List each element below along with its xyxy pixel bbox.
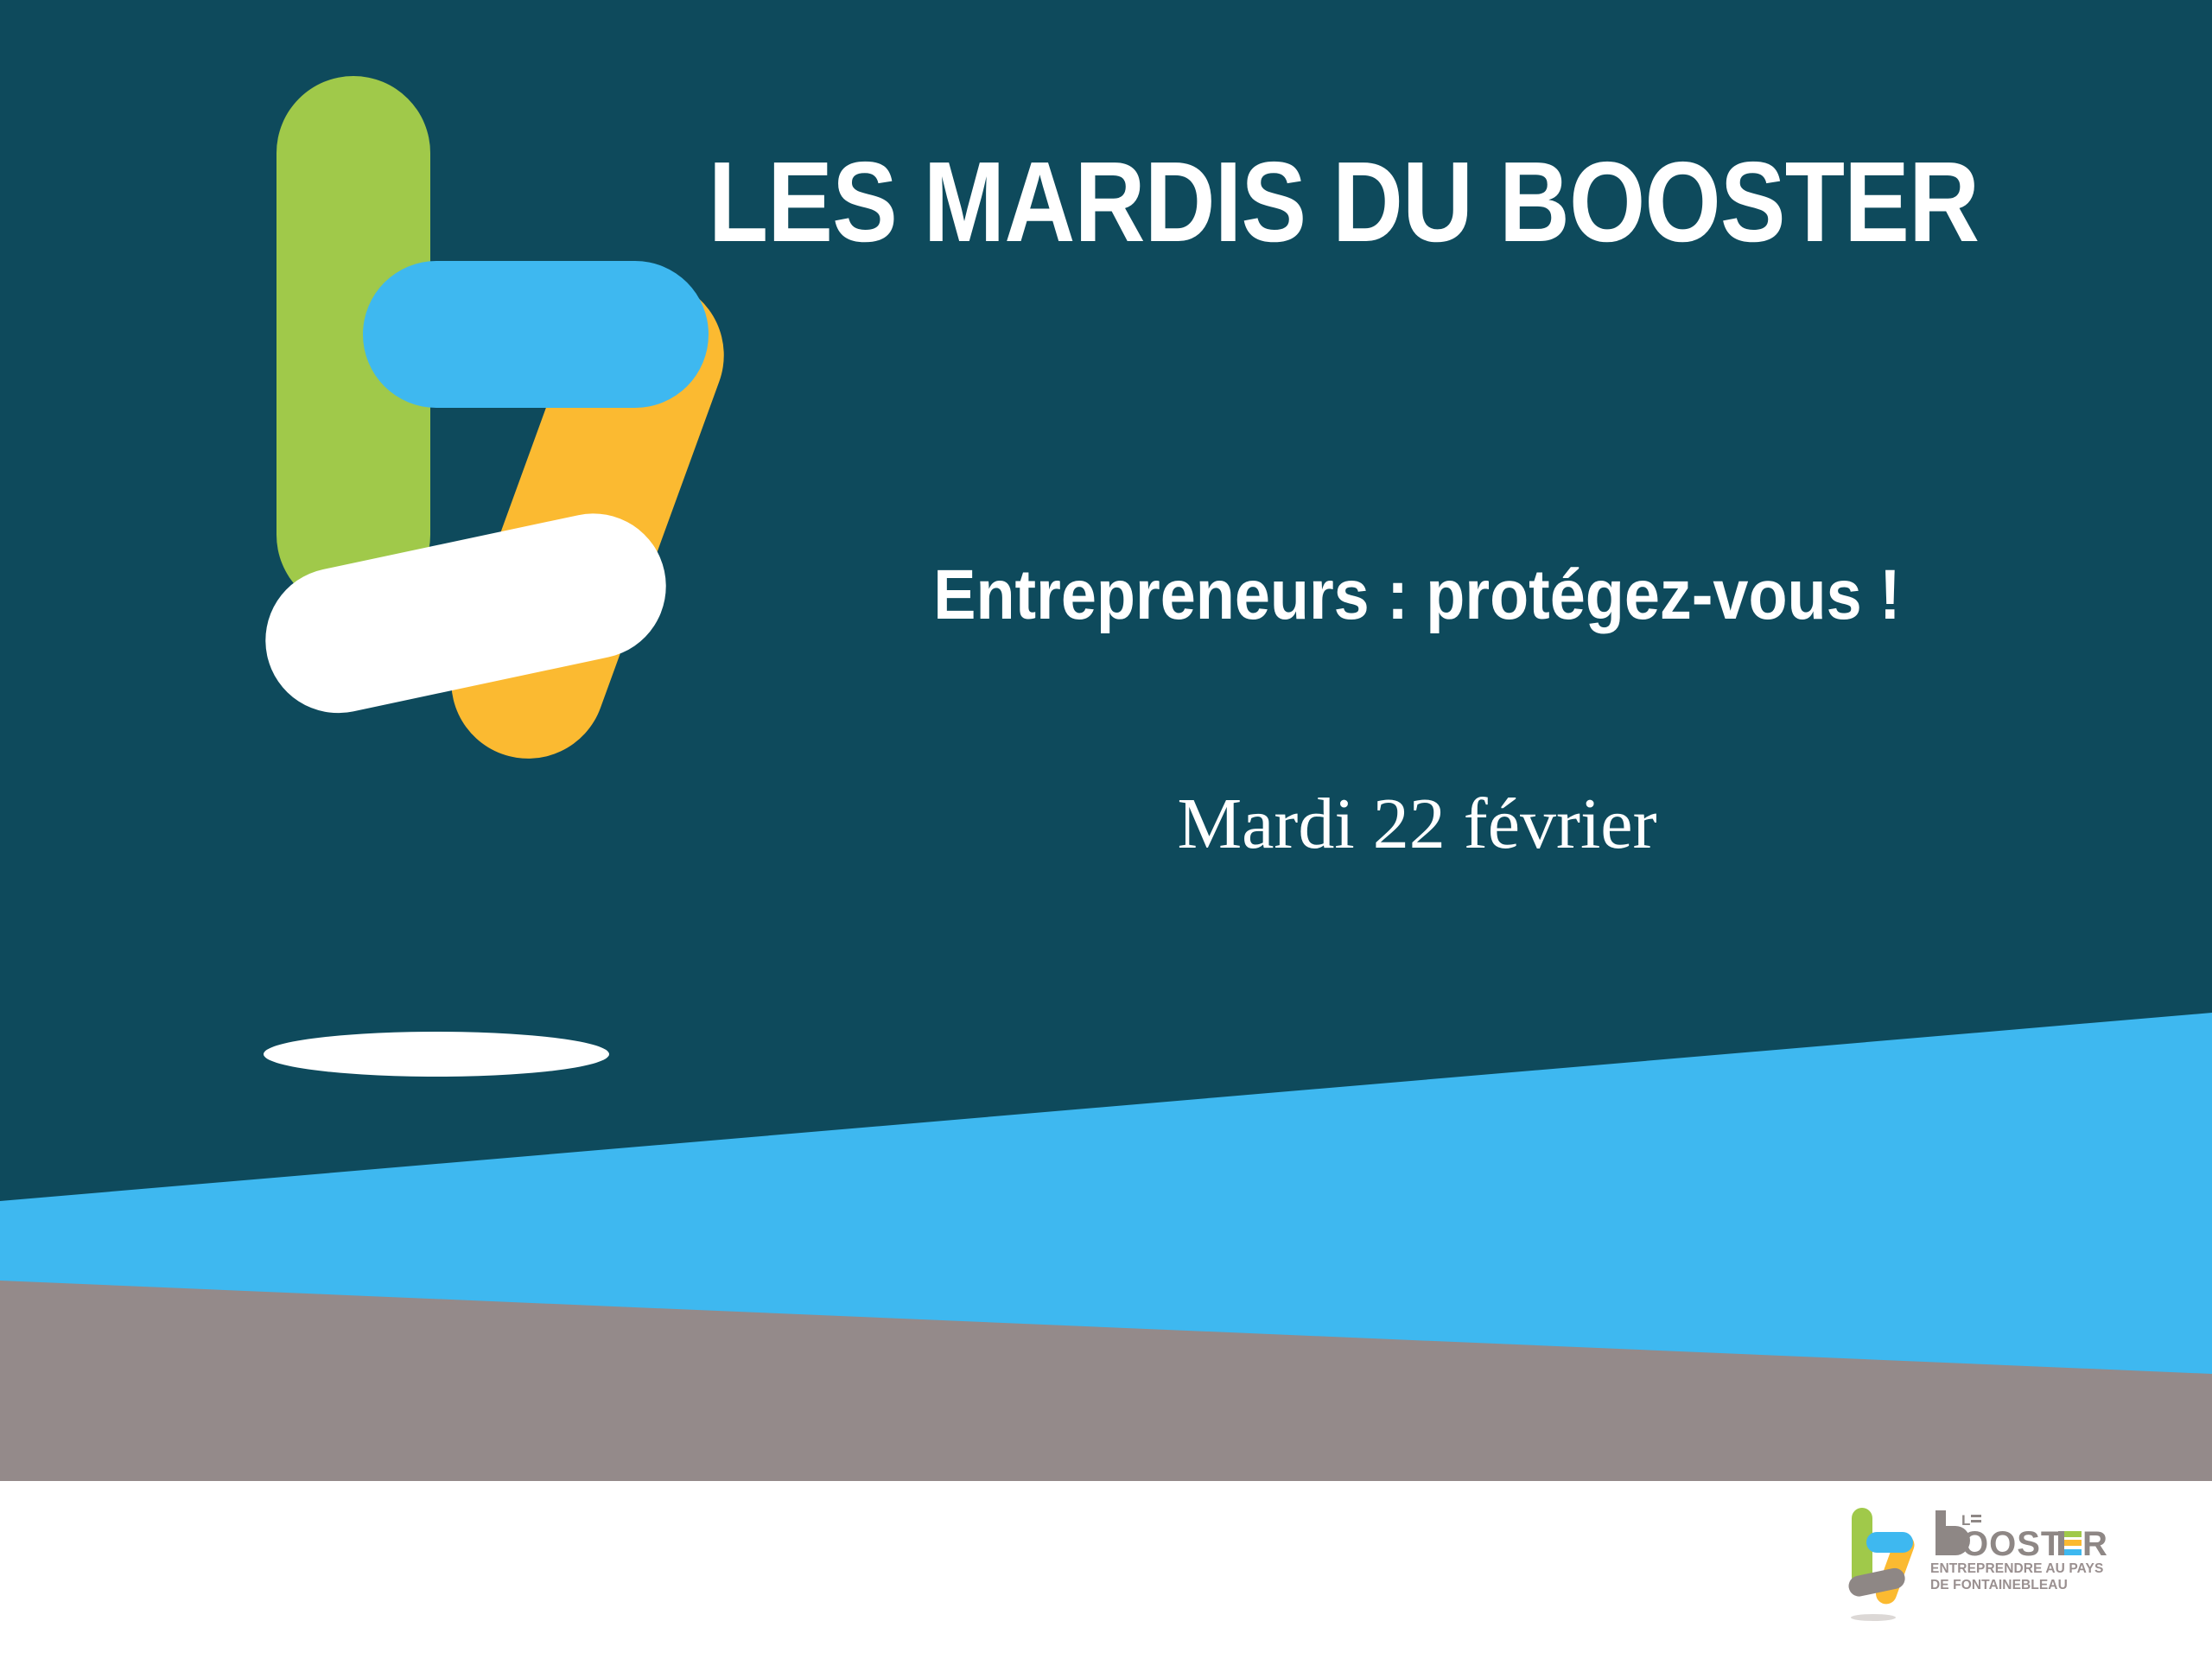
booster-logo-mark-small xyxy=(1847,1505,1927,1626)
footer-brand-logo: L OOST R ENTREPRENDRE AU PAYS DE FONTAIN… xyxy=(1847,1505,2133,1626)
booster-wordmark: L OOST R xyxy=(1930,1509,2112,1557)
wordmark-r: R xyxy=(2082,1525,2107,1557)
wordmark-e-stripe-green xyxy=(2064,1531,2082,1537)
footer-logo-text-block: L OOST R ENTREPRENDRE AU PAYS DE FONTAIN… xyxy=(1930,1505,2112,1594)
wordmark-ooster: OOST xyxy=(1961,1525,2063,1557)
slide-subtitle: Entrepreneurs : protégez-vous ! xyxy=(779,560,2055,631)
wordmark-e-stripe-orange xyxy=(2064,1540,2082,1546)
footer-logo-blue-bar xyxy=(1866,1532,1913,1553)
presentation-slide: LES MARDIS DU BOOSTER Entrepreneurs : pr… xyxy=(0,0,2212,1659)
event-date: Mardi 22 février xyxy=(709,788,2126,861)
logo-blue-bar xyxy=(363,261,709,408)
wordmark-e-stripe-blue xyxy=(2064,1549,2082,1555)
footer-logo-shadow-ellipse xyxy=(1851,1614,1896,1621)
page-title: LES MARDIS DU BOOSTER xyxy=(678,145,2008,259)
logo-shadow-ellipse xyxy=(264,1032,609,1077)
footer-tagline: ENTREPRENDRE AU PAYS DE FONTAINEBLEAU xyxy=(1930,1561,2112,1594)
